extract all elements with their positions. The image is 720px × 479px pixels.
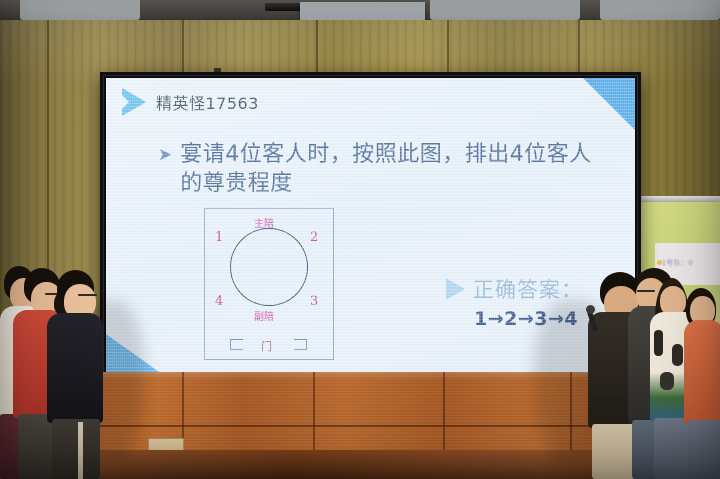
banquet-seating-diagram: 主陪 副陪 1 2 3 4 门 xyxy=(204,208,334,360)
diagram-seat-1: 1 xyxy=(215,230,223,245)
ceiling-light-panel xyxy=(600,0,720,20)
diagram-door-label: 门 xyxy=(261,338,272,354)
jacket-pattern xyxy=(672,344,683,366)
torso xyxy=(684,320,720,424)
play-triangle-icon xyxy=(446,278,465,300)
jacket-pattern xyxy=(654,330,663,356)
diagram-seat-3: 3 xyxy=(310,294,318,309)
legs xyxy=(688,420,720,479)
diagram-round-table xyxy=(230,228,308,306)
slide-bullet-block: ➤ 宴请4位客人时，按照此图，排出4位客人的尊贵程度 xyxy=(158,140,598,199)
legs xyxy=(52,419,100,479)
ceiling-light-panel xyxy=(430,0,580,20)
wood-seam-vertical xyxy=(313,372,315,452)
corner-decoration-top-right xyxy=(583,78,635,130)
diagram-label-host: 主陪 xyxy=(254,215,274,230)
jacket-pattern xyxy=(660,372,674,390)
diagram-door-bracket-right xyxy=(294,339,307,350)
glasses xyxy=(78,294,97,296)
slide-title-row: 精英怪17563 xyxy=(122,88,259,116)
glasses xyxy=(637,290,655,292)
arrow-bullet-icon: ➤ xyxy=(158,146,172,199)
slide-bullet-text: 宴请4位客人时，按照此图，排出4位客人的尊贵程度 xyxy=(180,140,598,199)
diagram-door-bracket-left xyxy=(230,339,243,350)
presentation-room-scene: 1号队：0 精英怪17563 ➤ 宴请4位客人时，按照此图，排出4位客人的尊贵程… xyxy=(0,0,720,479)
play-triangle-icon xyxy=(122,88,146,116)
slide-title: 精英怪17563 xyxy=(156,90,259,114)
diagram-seat-2: 2 xyxy=(310,230,318,245)
ceiling-light-panel xyxy=(20,0,140,20)
pant-stripe xyxy=(78,422,83,479)
diagram-seat-4: 4 xyxy=(215,294,223,309)
diagram-label-cohost: 副陪 xyxy=(254,308,274,323)
secondary-screen-card-text: 1号队：0 xyxy=(662,258,720,268)
microphone-head-icon xyxy=(586,305,595,314)
wood-seam-vertical xyxy=(443,372,445,452)
torso xyxy=(47,313,103,423)
